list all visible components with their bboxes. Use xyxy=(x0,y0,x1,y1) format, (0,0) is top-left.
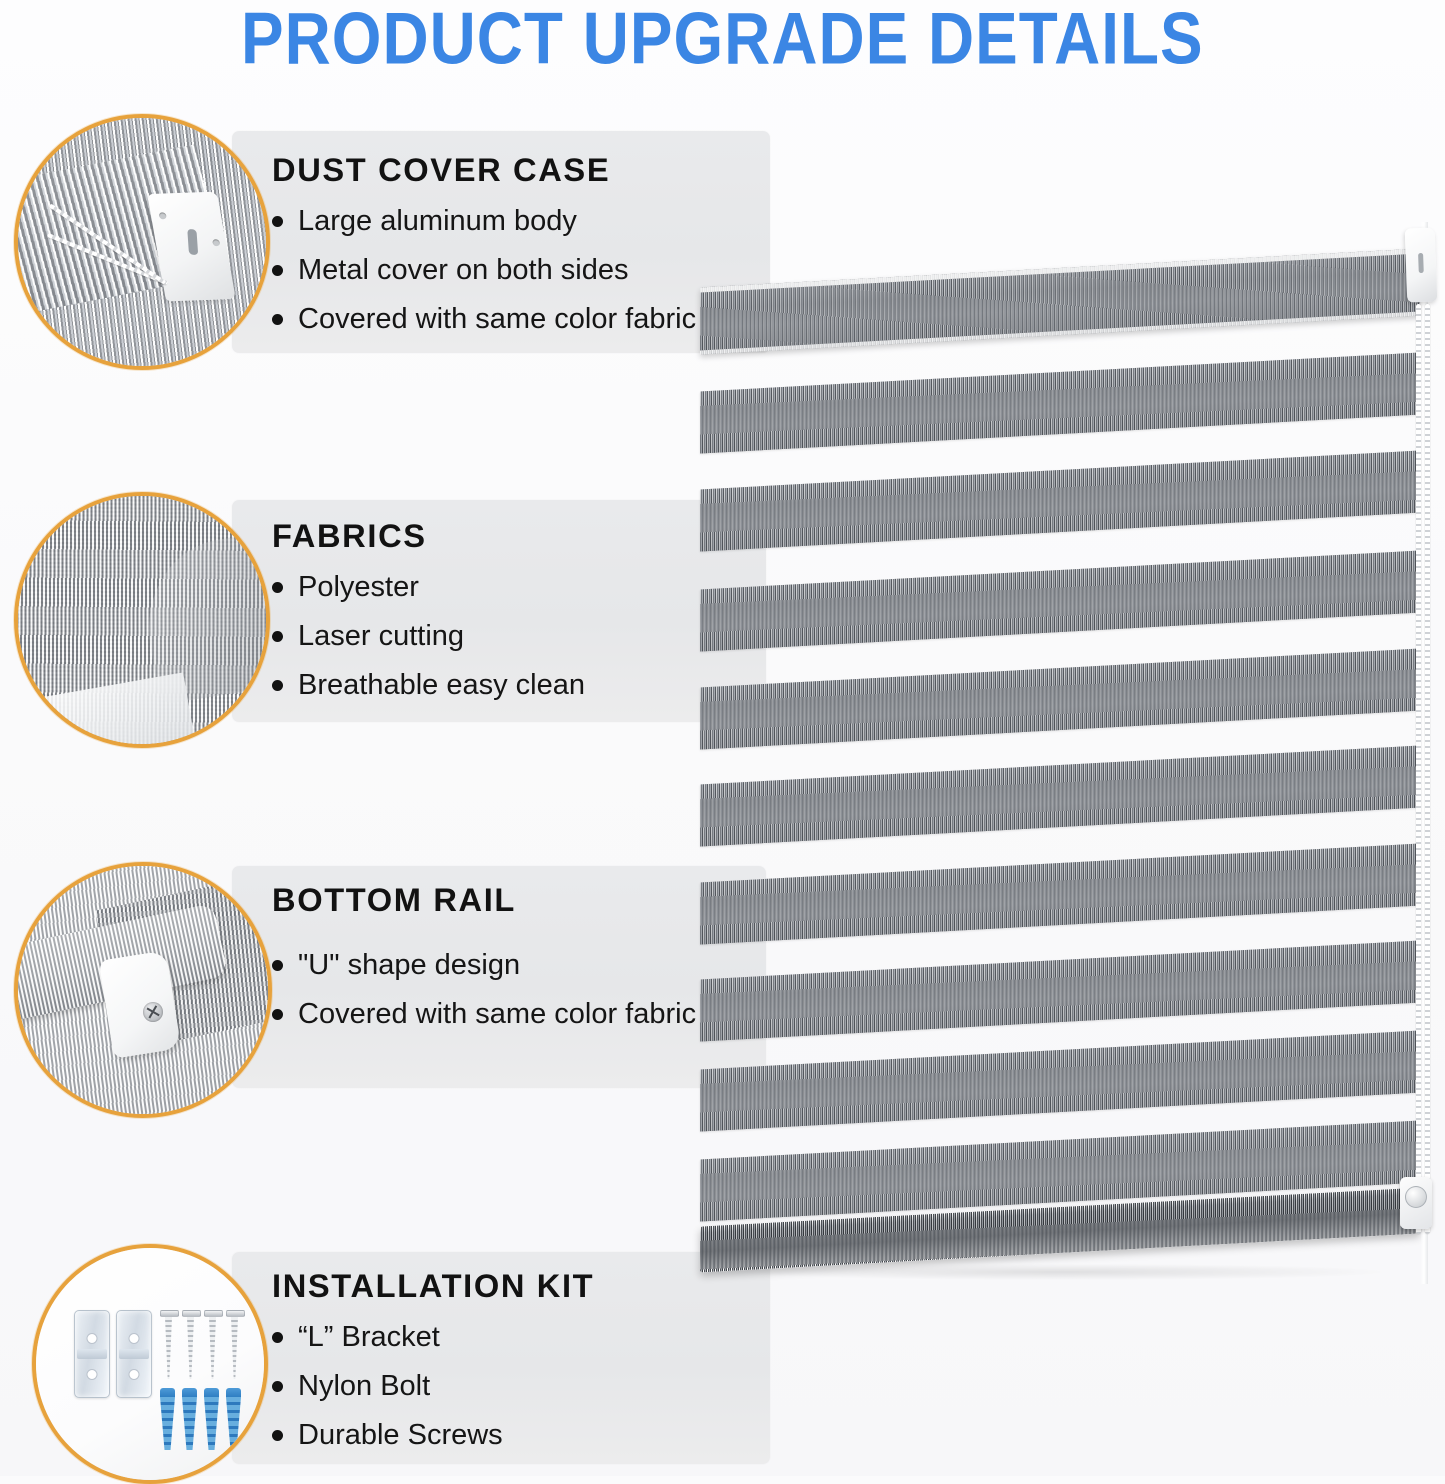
blind-drop-shadow xyxy=(740,1264,1382,1280)
bracket-arm xyxy=(119,1349,149,1359)
nylon-bolt-anchor-icon xyxy=(182,1388,197,1450)
feature-text: BOTTOM RAIL "U" shape design Covered wit… xyxy=(272,882,696,1031)
feature-bullet-list: Large aluminum body Metal cover on both … xyxy=(272,205,696,336)
bracket-hole xyxy=(87,1333,98,1344)
page-title: PRODUCT UPGRADE DETAILS xyxy=(241,0,1204,81)
bracket-hole xyxy=(129,1369,140,1380)
l-bracket-icon xyxy=(74,1310,110,1398)
anchor-body xyxy=(226,1397,241,1450)
feature-bullet-label: Polyester xyxy=(298,571,419,604)
blind-band xyxy=(700,746,1420,847)
feature-bullet-label: Large aluminum body xyxy=(298,205,577,238)
blind-band xyxy=(700,451,1420,552)
blind-band xyxy=(700,249,1420,355)
feature-bullet: Covered with same color fabric xyxy=(272,998,696,1031)
feature-title: DUST COVER CASE xyxy=(272,152,705,189)
anchor-body xyxy=(160,1397,175,1450)
blind-band xyxy=(700,941,1420,1042)
feature-bullet-label: “L” Bracket xyxy=(298,1321,440,1354)
chain-wheel-icon xyxy=(1405,1186,1427,1208)
feature-bullet: "U" shape design xyxy=(272,949,696,982)
feature-bullet-label: Nylon Bolt xyxy=(298,1370,430,1403)
page-title-bar: PRODUCT UPGRADE DETAILS xyxy=(0,0,1445,78)
feature-bullet: Large aluminum body xyxy=(272,205,696,238)
nylon-bolt-anchor-icon xyxy=(226,1388,241,1450)
screw-head xyxy=(182,1310,201,1317)
anchor-head xyxy=(204,1388,219,1397)
screw-shaft xyxy=(209,1317,216,1379)
blind-top-end-cap xyxy=(1405,227,1438,302)
bullet-dot-icon xyxy=(272,1009,283,1020)
feature-bullet-label: Laser cutting xyxy=(298,620,464,653)
product-zebra-blind-image xyxy=(700,222,1442,1284)
bullet-dot-icon xyxy=(272,1332,283,1343)
blind-band xyxy=(700,551,1420,652)
feature-bullet-list: Polyester Laser cutting Breathable easy … xyxy=(272,571,585,702)
fabrics-photo xyxy=(14,492,270,748)
feature-bullet-label: Covered with same color fabric xyxy=(298,998,696,1031)
blind-fabric-bands xyxy=(700,222,1442,1284)
blind-band xyxy=(700,353,1420,454)
bullet-dot-icon xyxy=(272,680,283,691)
bead-chain-strand xyxy=(1425,304,1430,1234)
l-bracket-icon xyxy=(116,1310,152,1398)
anchor-head xyxy=(160,1388,175,1397)
screw-icon xyxy=(164,1310,173,1379)
bracket-arm xyxy=(77,1349,107,1359)
bead-chain-strand xyxy=(1416,304,1421,1234)
bracket-hole xyxy=(87,1369,98,1380)
feature-bullet: Metal cover on both sides xyxy=(272,254,696,287)
anchor-head xyxy=(226,1388,241,1397)
bullet-dot-icon xyxy=(272,582,283,593)
nylon-bolt-anchor-icon xyxy=(160,1388,175,1450)
blind-band xyxy=(700,649,1420,750)
feature-bullet-label: "U" shape design xyxy=(298,949,520,982)
screw-icon xyxy=(230,1310,239,1379)
chain-tensioner[interactable] xyxy=(1400,1177,1432,1229)
anchor-head xyxy=(182,1388,197,1397)
bead-chain[interactable] xyxy=(1416,304,1430,1234)
feature-bullet-label: Metal cover on both sides xyxy=(298,254,628,287)
anchor-body xyxy=(182,1397,197,1450)
installation-kit-photo xyxy=(32,1244,268,1484)
dust-cover-case-photo xyxy=(14,114,270,370)
feature-title: INSTALLATION KIT xyxy=(272,1268,594,1305)
bullet-dot-icon xyxy=(272,1430,283,1441)
end-cap-slot xyxy=(1418,253,1424,273)
feature-bullet: Laser cutting xyxy=(272,620,585,653)
feature-bullet: Breathable easy clean xyxy=(272,669,585,702)
feature-bullet-label: Covered with same color fabric xyxy=(298,303,696,336)
bullet-dot-icon xyxy=(272,265,283,276)
bracket-hole xyxy=(129,1333,140,1344)
screw-hole xyxy=(158,212,166,219)
feature-bullet: “L” Bracket xyxy=(272,1321,588,1354)
feature-bullet: Nylon Bolt xyxy=(272,1370,588,1403)
feature-bullet-list: "U" shape design Covered with same color… xyxy=(272,949,696,1031)
bullet-dot-icon xyxy=(272,216,283,227)
screw-head xyxy=(226,1310,245,1317)
feature-bullet: Polyester xyxy=(272,571,585,604)
feature-bullet: Durable Screws xyxy=(272,1419,588,1452)
feature-text: DUST COVER CASE Large aluminum body Meta… xyxy=(272,152,696,336)
blind-band xyxy=(700,1031,1420,1132)
bullet-dot-icon xyxy=(272,631,283,642)
bullet-dot-icon xyxy=(272,1381,283,1392)
screw-shaft xyxy=(187,1317,194,1379)
screw-shaft xyxy=(165,1317,172,1379)
feature-title: BOTTOM RAIL xyxy=(272,882,705,919)
screw-shaft xyxy=(231,1317,238,1379)
screw-icon xyxy=(186,1310,195,1379)
nylon-bolt-anchor-icon xyxy=(204,1388,219,1450)
screw-head xyxy=(160,1310,179,1317)
feature-bullet: Covered with same color fabric xyxy=(272,303,696,336)
bottom-rail-photo xyxy=(14,862,272,1118)
anchor-body xyxy=(204,1397,219,1450)
feature-bullet-label: Durable Screws xyxy=(298,1419,503,1452)
cap-slot xyxy=(187,229,198,255)
blind-band xyxy=(700,844,1420,945)
bullet-dot-icon xyxy=(272,314,283,325)
feature-bullet-list: “L” Bracket Nylon Bolt Durable Screws xyxy=(272,1321,588,1452)
feature-text: FABRICS Polyester Laser cutting Breathab… xyxy=(272,518,585,702)
screw-hole xyxy=(211,240,219,247)
feature-bullet-label: Breathable easy clean xyxy=(298,669,585,702)
screw-icon xyxy=(208,1310,217,1379)
feature-title: FABRICS xyxy=(272,518,591,555)
bullet-dot-icon xyxy=(272,960,283,971)
feature-text: INSTALLATION KIT “L” Bracket Nylon Bolt … xyxy=(272,1268,588,1452)
screw-head xyxy=(204,1310,223,1317)
